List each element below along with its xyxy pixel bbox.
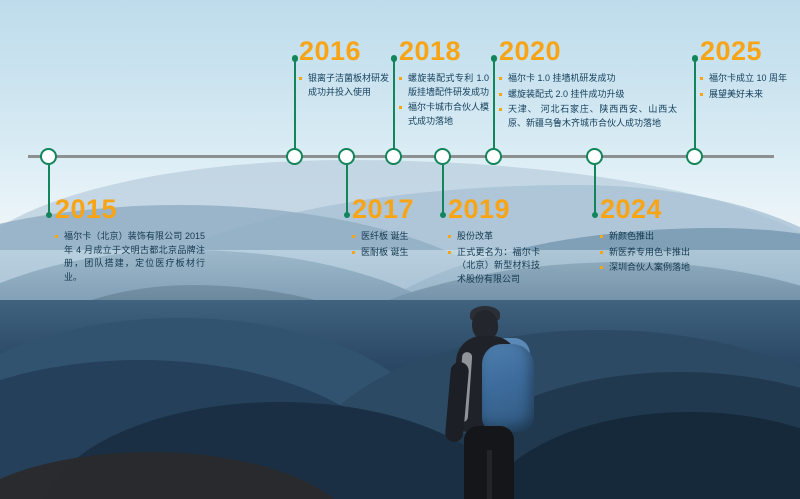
bullet-item: 天津、 河北石家庄、陕西西安、山西太原、新疆乌鲁木齐城市合伙人成功落地 bbox=[499, 103, 677, 130]
bullet-item: 深圳合伙人案例落地 bbox=[600, 261, 710, 275]
bullet-item: 新医养专用色卡推出 bbox=[600, 246, 710, 260]
year-label-2020: 2020 bbox=[499, 38, 677, 65]
bullet-list-2024: 新颜色推出 新医养专用色卡推出 深圳合伙人案例落地 bbox=[600, 230, 710, 275]
bullet-item: 螺旋装配式 2.0 挂件成功升级 bbox=[499, 88, 677, 102]
year-label-2015: 2015 bbox=[55, 196, 205, 223]
timeline-entry-2019: 2019 股份改革 正式更名为：福尔卡（北京）新型材料技术股份有限公司 bbox=[448, 196, 540, 288]
bullet-list-2019: 股份改革 正式更名为：福尔卡（北京）新型材料技术股份有限公司 bbox=[448, 230, 540, 286]
timeline-entry-2017: 2017 医纤板 诞生 医耐板 诞生 bbox=[352, 196, 442, 261]
timeline-node-2019[interactable] bbox=[434, 148, 451, 165]
timeline-stem-2017 bbox=[346, 165, 349, 215]
timeline-stem-2018 bbox=[393, 58, 396, 150]
year-label-2025: 2025 bbox=[700, 38, 795, 65]
timeline-entry-2015: 2015 福尔卡（北京）装饰有限公司 2015 年 4 月成立于文明古都北京品牌… bbox=[55, 196, 205, 286]
timeline-entry-2018: 2018 螺旋装配式专利 1.0 版挂墙配件研发成功 福尔卡城市合伙人模式成功落… bbox=[399, 38, 489, 130]
leg-separation bbox=[487, 450, 492, 499]
bullet-list-2025: 福尔卡成立 10 周年 展望美好未来 bbox=[700, 72, 795, 101]
bullet-item: 正式更名为：福尔卡（北京）新型材料技术股份有限公司 bbox=[448, 246, 540, 287]
timeline-stem-2025 bbox=[694, 58, 697, 150]
timeline-entry-2020: 2020 福尔卡 1.0 挂墙机研发成功 螺旋装配式 2.0 挂件成功升级 天津… bbox=[499, 38, 677, 132]
timeline-stem-2016 bbox=[294, 58, 297, 150]
year-label-2024: 2024 bbox=[600, 196, 710, 223]
hiker-silhouette bbox=[430, 300, 560, 499]
timeline-node-2018[interactable] bbox=[385, 148, 402, 165]
bullet-item: 展望美好未来 bbox=[700, 88, 795, 102]
timeline-entry-2024: 2024 新颜色推出 新医养专用色卡推出 深圳合伙人案例落地 bbox=[600, 196, 710, 277]
timeline-node-2024[interactable] bbox=[586, 148, 603, 165]
bullet-item: 福尔卡成立 10 周年 bbox=[700, 72, 795, 86]
bullet-list-2016: 银离子洁菌板材研发成功并投入使用 bbox=[299, 72, 389, 99]
year-label-2018: 2018 bbox=[399, 38, 489, 65]
timeline-stem-2015 bbox=[48, 165, 51, 215]
bullet-item: 医耐板 诞生 bbox=[352, 246, 442, 260]
year-label-2019: 2019 bbox=[448, 196, 540, 223]
bullet-item: 医纤板 诞生 bbox=[352, 230, 442, 244]
timeline-entry-2025: 2025 福尔卡成立 10 周年 展望美好未来 bbox=[700, 38, 795, 103]
timeline-node-2020[interactable] bbox=[485, 148, 502, 165]
timeline-infographic: 2015 福尔卡（北京）装饰有限公司 2015 年 4 月成立于文明古都北京品牌… bbox=[0, 0, 800, 499]
year-label-2017: 2017 bbox=[352, 196, 442, 223]
bullet-item: 福尔卡 1.0 挂墙机研发成功 bbox=[499, 72, 677, 86]
timeline-node-2016[interactable] bbox=[286, 148, 303, 165]
timeline-node-2017[interactable] bbox=[338, 148, 355, 165]
year-label-2016: 2016 bbox=[299, 38, 389, 65]
backpack bbox=[482, 344, 534, 432]
timeline-stem-2020 bbox=[493, 58, 496, 150]
bullet-item: 新颜色推出 bbox=[600, 230, 710, 244]
bullet-item: 螺旋装配式专利 1.0 版挂墙配件研发成功 bbox=[399, 72, 489, 99]
bullet-item: 股份改革 bbox=[448, 230, 540, 244]
bullet-item: 福尔卡城市合伙人模式成功落地 bbox=[399, 101, 489, 128]
timeline-entry-2016: 2016 银离子洁菌板材研发成功并投入使用 bbox=[299, 38, 389, 101]
timeline-node-2025[interactable] bbox=[686, 148, 703, 165]
bullet-item: 福尔卡（北京）装饰有限公司 2015 年 4 月成立于文明古都北京品牌注册，团队… bbox=[55, 230, 205, 284]
bullet-item: 银离子洁菌板材研发成功并投入使用 bbox=[299, 72, 389, 99]
bullet-list-2017: 医纤板 诞生 医耐板 诞生 bbox=[352, 230, 442, 259]
timeline-stem-2024 bbox=[594, 165, 597, 215]
bullet-list-2018: 螺旋装配式专利 1.0 版挂墙配件研发成功 福尔卡城市合伙人模式成功落地 bbox=[399, 72, 489, 128]
bullet-list-2015: 福尔卡（北京）装饰有限公司 2015 年 4 月成立于文明古都北京品牌注册，团队… bbox=[55, 230, 205, 284]
bullet-list-2020: 福尔卡 1.0 挂墙机研发成功 螺旋装配式 2.0 挂件成功升级 天津、 河北石… bbox=[499, 72, 677, 130]
timeline-node-2015[interactable] bbox=[40, 148, 57, 165]
